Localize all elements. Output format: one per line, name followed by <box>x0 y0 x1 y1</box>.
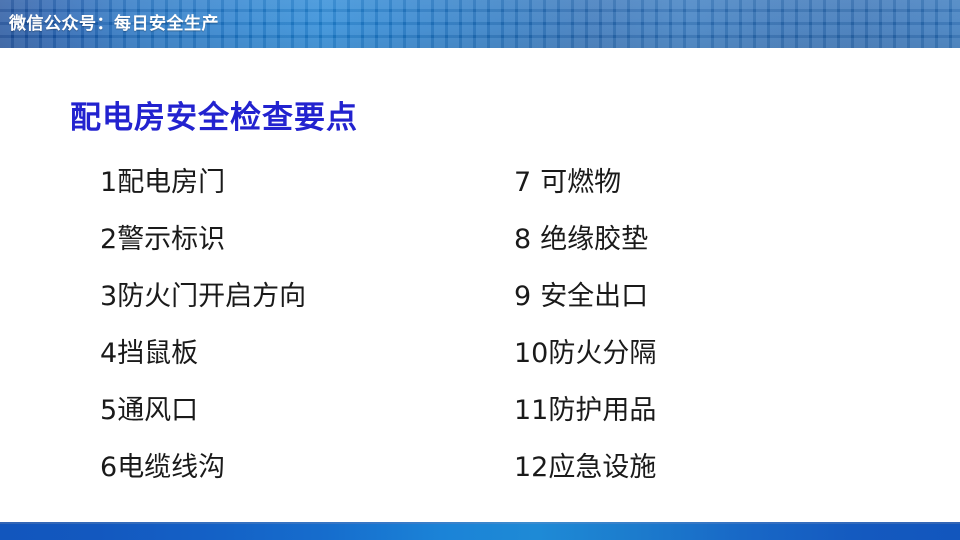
list-item-number: 5 <box>100 395 117 426</box>
list-item-label: 防火门开启方向 <box>117 274 306 313</box>
list-item-number: 9 <box>514 281 531 312</box>
page-title: 配电房安全检查要点 <box>70 92 358 137</box>
checklist-right-column: 7 可燃物 8 绝缘胶垫 9 安全出口 10 防火分隔 11 <box>514 160 656 502</box>
list-item-label: 防护用品 <box>548 388 656 427</box>
list-item: 6 电缆线沟 <box>100 445 306 502</box>
list-item-label: 应急设施 <box>548 445 656 484</box>
list-item-label: 警示标识 <box>117 217 225 256</box>
list-item: 9 安全出口 <box>514 274 656 331</box>
list-item-number: 4 <box>100 338 117 369</box>
footer-banner <box>0 524 960 540</box>
list-item-number: 10 <box>514 338 548 369</box>
wechat-account-watermark: 微信公众号：每日安全生产 <box>9 9 219 34</box>
list-item-number: 7 <box>514 167 531 198</box>
list-item-label: 电缆线沟 <box>117 445 225 484</box>
list-item-number: 3 <box>100 281 117 312</box>
list-item-label: 防火分隔 <box>548 331 656 370</box>
list-item: 2 警示标识 <box>100 217 306 274</box>
list-item-number: 11 <box>514 395 548 426</box>
header-banner: 微信公众号：每日安全生产 <box>0 0 960 48</box>
list-item: 10 防火分隔 <box>514 331 656 388</box>
list-item: 12 应急设施 <box>514 445 656 502</box>
list-item-label: 挡鼠板 <box>117 331 198 370</box>
list-item-label: 绝缘胶垫 <box>540 217 648 256</box>
slide-content-area: 配电房安全检查要点 1 配电房门 2 警示标识 3 防火门开启方向 4 <box>0 48 960 524</box>
list-item: 5 通风口 <box>100 388 306 445</box>
list-item-label: 通风口 <box>117 388 198 427</box>
list-item-number: 8 <box>514 224 531 255</box>
list-item-number: 2 <box>100 224 117 255</box>
list-item-number: 12 <box>514 452 548 483</box>
checklist-left-column: 1 配电房门 2 警示标识 3 防火门开启方向 4 挡鼠板 5 <box>100 160 306 502</box>
list-item: 7 可燃物 <box>514 160 656 217</box>
list-item-label: 安全出口 <box>540 274 648 313</box>
list-item: 11 防护用品 <box>514 388 656 445</box>
list-item-number: 1 <box>100 167 117 198</box>
list-item-number: 6 <box>100 452 117 483</box>
list-item: 3 防火门开启方向 <box>100 274 306 331</box>
list-item: 1 配电房门 <box>100 160 306 217</box>
list-item-label: 配电房门 <box>117 160 225 199</box>
list-item-label: 可燃物 <box>540 160 621 199</box>
list-item: 4 挡鼠板 <box>100 331 306 388</box>
list-item: 8 绝缘胶垫 <box>514 217 656 274</box>
